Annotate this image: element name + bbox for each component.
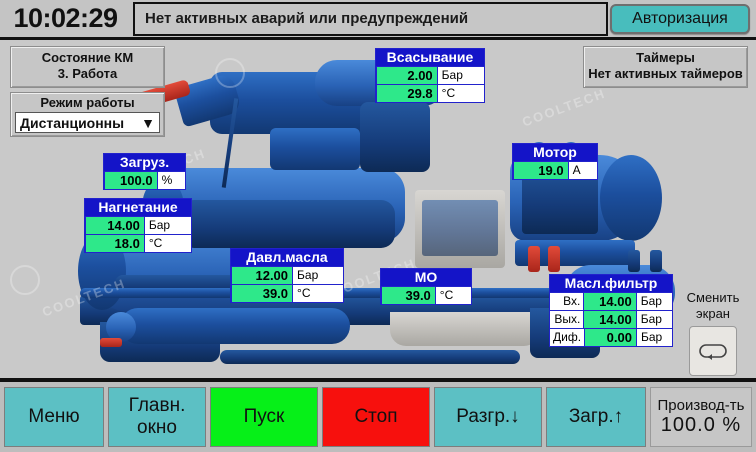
change-screen-panel: Сменить экран	[674, 290, 752, 378]
tag-oil-temperature-value: 39.0	[231, 285, 293, 302]
tag-oil-filter-diff-label: Диф.	[550, 329, 584, 346]
authorization-button[interactable]: Авторизация	[610, 4, 750, 34]
tag-oil-filter-inlet-value: 14.00	[583, 293, 636, 310]
tag-oil-filter-diff-unit: Бар	[637, 329, 672, 346]
tag-suction-pressure-value: 2.00	[376, 67, 438, 84]
tag-load: Загруз. 100.0 %	[103, 153, 186, 190]
compressor-state-title: Состояние КМ	[11, 50, 164, 66]
tag-load-unit: %	[158, 172, 185, 189]
loop-arrow-icon	[698, 341, 728, 361]
main-window-label-2: окно	[137, 417, 177, 439]
capacity-panel: Производ-ть 100.0 %	[650, 387, 752, 447]
clock-display: 10:02:29	[0, 0, 131, 37]
tag-motor-title: Мотор	[513, 144, 597, 161]
tag-discharge-temperature-unit: °C	[145, 235, 191, 252]
operating-mode-title: Режим работы	[11, 95, 164, 111]
tag-discharge-pressure-value: 14.00	[85, 217, 145, 234]
timers-panel: Таймеры Нет активных таймеров	[583, 46, 748, 88]
tag-discharge: Нагнетание 14.00 Бар 18.0 °C	[84, 198, 192, 253]
tag-discharge-pressure-unit: Бар	[145, 217, 191, 234]
tag-oil-filter-inlet-label: Вх.	[550, 293, 583, 310]
bottom-toolbar: Меню Главн. окно Пуск Стоп Разгр.↓ Загр.…	[0, 378, 756, 452]
alarm-status-bar: Нет активных аварий или предупреждений	[133, 2, 608, 36]
tag-motor: Мотор 19.0 A	[512, 143, 598, 180]
load-button[interactable]: Загр.↑	[546, 387, 646, 447]
tag-oil-filter-title: Масл.фильтр	[550, 275, 672, 292]
tag-oil-filter-inlet-unit: Бар	[637, 293, 672, 310]
change-screen-label-2: экран	[674, 306, 752, 322]
capacity-unit: %	[722, 414, 741, 436]
timers-value: Нет активных таймеров	[584, 66, 747, 82]
main-window-label-1: Главн.	[129, 395, 186, 417]
tag-oil-filter-outlet-label: Вых.	[550, 311, 583, 328]
change-screen-label-1: Сменить	[674, 290, 752, 306]
tag-mo-unit: °C	[436, 287, 471, 304]
tag-load-title: Загруз.	[104, 154, 185, 171]
tag-oil-pressure-value: 12.00	[231, 267, 293, 284]
operating-mode-panel: Режим работы Дистанционны ▼	[10, 92, 165, 137]
tag-oil-filter-outlet-value: 14.00	[583, 311, 636, 328]
tag-oil-pressure-unit: Бар	[293, 267, 343, 284]
tag-load-value: 100.0	[104, 172, 158, 189]
capacity-readout: 100.0 %	[661, 414, 741, 437]
tag-mo-value: 39.0	[381, 287, 436, 304]
capacity-title: Производ-ть	[658, 397, 745, 414]
machine-diagram-area: COOLTECH COOLTECH COOLTECH COOLTECH Сост…	[0, 40, 756, 378]
capacity-value: 100.0	[661, 414, 716, 436]
operating-mode-value: Дистанционны	[20, 115, 124, 131]
stop-button[interactable]: Стоп	[322, 387, 430, 447]
menu-button[interactable]: Меню	[4, 387, 104, 447]
chevron-down-icon: ▼	[141, 115, 155, 131]
main-window-button[interactable]: Главн. окно	[108, 387, 206, 447]
tag-suction-temperature-value: 29.8	[376, 85, 438, 102]
timers-title: Таймеры	[584, 50, 747, 66]
tag-oil-pressure: Давл.масла 12.00 Бар 39.0 °C	[230, 248, 344, 303]
tag-oil-filter-diff-value: 0.00	[584, 329, 637, 346]
unload-button[interactable]: Разгр.↓	[434, 387, 542, 447]
tag-oil-filter-outlet-unit: Бар	[637, 311, 672, 328]
tag-motor-current-value: 19.0	[513, 162, 569, 179]
tag-oil-pressure-title: Давл.масла	[231, 249, 343, 266]
tag-mo-title: МО	[381, 269, 471, 286]
change-screen-button[interactable]	[689, 326, 737, 376]
watermark-ring-icon	[10, 265, 40, 295]
tag-suction-pressure-unit: Бар	[438, 67, 484, 84]
tag-mo: МО 39.0 °C	[380, 268, 472, 305]
tag-suction-title: Всасывание	[376, 49, 484, 66]
tag-discharge-temperature-value: 18.0	[85, 235, 145, 252]
compressor-state-value: 3. Работа	[11, 66, 164, 82]
tag-oil-temperature-unit: °C	[293, 285, 343, 302]
tag-suction-temperature-unit: °C	[438, 85, 484, 102]
tag-suction: Всасывание 2.00 Бар 29.8 °C	[375, 48, 485, 103]
tag-oil-filter: Масл.фильтр Вх. 14.00 Бар Вых. 14.00 Бар…	[549, 274, 673, 347]
compressor-state-panel: Состояние КМ 3. Работа	[10, 46, 165, 88]
start-button[interactable]: Пуск	[210, 387, 318, 447]
tag-discharge-title: Нагнетание	[85, 199, 191, 216]
tag-motor-current-unit: A	[569, 162, 597, 179]
hmi-screen: 10:02:29 Нет активных аварий или предупр…	[0, 0, 756, 452]
header-bar: 10:02:29 Нет активных аварий или предупр…	[0, 0, 756, 40]
operating-mode-select[interactable]: Дистанционны ▼	[15, 112, 160, 133]
